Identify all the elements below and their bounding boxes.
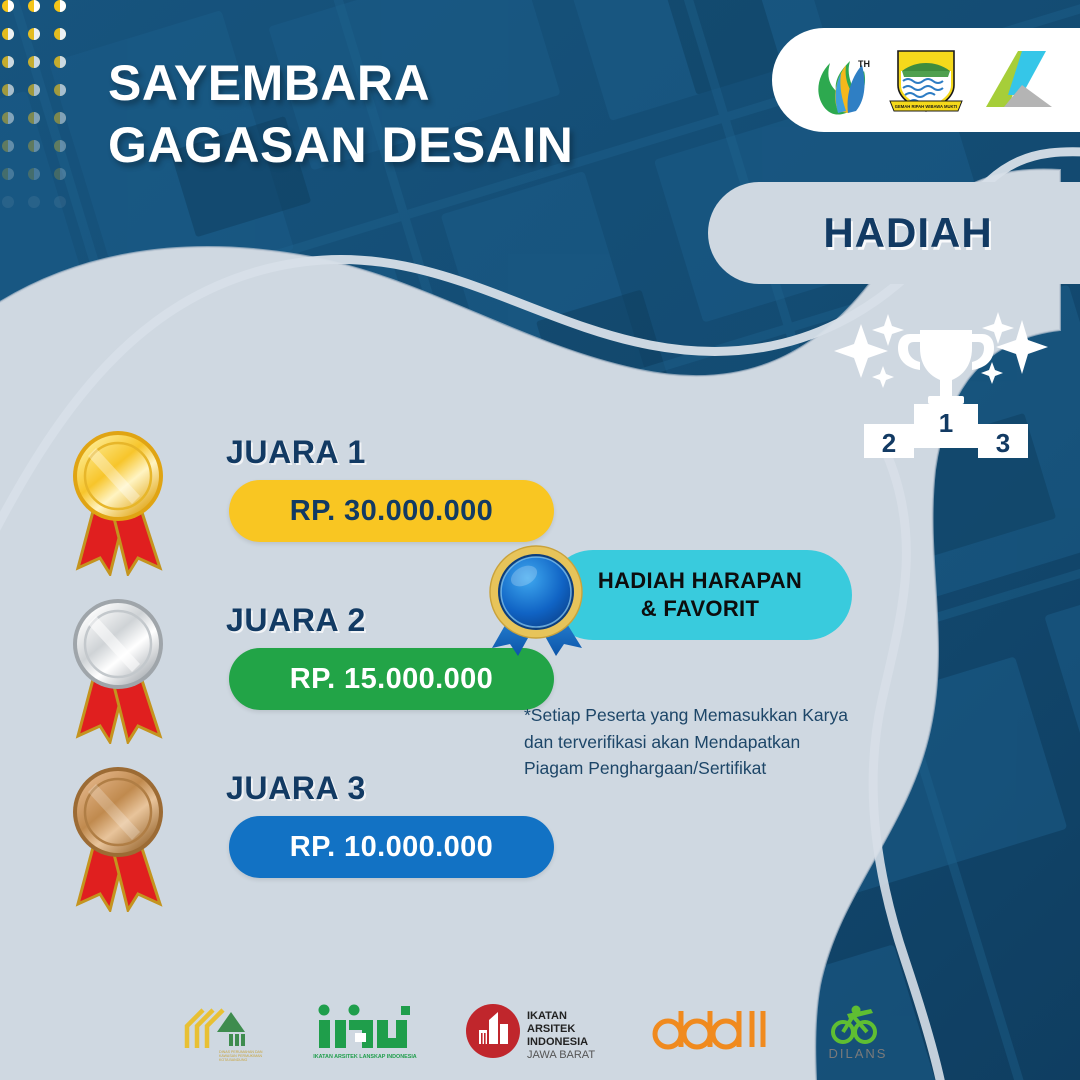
silver-medal-icon [66, 594, 172, 744]
dilans-logo: DILANS [815, 1000, 901, 1062]
anniversary-flame-logo: TH [808, 45, 870, 115]
iai-text-3: INDONESIA [527, 1036, 588, 1048]
coat-of-arms-motto: GEMAH RIPAH WIBAWA MUKTI [895, 104, 958, 109]
footer-logo-strip: DINAS PERUMAHAN DAN KAWASAN PERMUKIMAN K… [0, 1000, 1080, 1062]
iai-text-4: JAWA BARAT [527, 1049, 595, 1061]
decorative-dot-grid [0, 0, 80, 230]
triangle-brand-logo [982, 45, 1056, 115]
prize-amount-1: RP. 30.000.000 [229, 480, 554, 542]
special-prize-line-2: & FAVORIT [641, 596, 759, 621]
trophy-icon [898, 330, 994, 404]
page-title: SAYEMBARA GAGASAN DESAIN [108, 52, 573, 176]
section-label-text: HADIAH [823, 209, 992, 257]
iai-text-1: IKATAN [527, 1010, 567, 1022]
podium-place-2: 2 [882, 428, 896, 458]
sparkle-icon [834, 314, 904, 388]
iali-logo-text: IKATAN ARSITEK LANSKAP INDONESIA [313, 1054, 417, 1060]
title-line-2: GAGASAN DESAIN [108, 114, 573, 176]
section-label-hadiah: HADIAH [708, 182, 1080, 284]
gold-medal-icon [66, 426, 172, 576]
prize-list: JUARA 1 RP. 30.000.000 [66, 418, 536, 922]
podium-graphic: 1 2 3 [864, 404, 1028, 458]
dilans-logo-text: DILANS [829, 1046, 888, 1061]
blue-rosette-icon [478, 536, 606, 664]
bandung-coat-of-arms-logo: GEMAH RIPAH WIBAWA MUKTI [888, 45, 964, 115]
special-prize-label: HADIAH HARAPAN & FAVORIT [598, 567, 802, 623]
podium-place-3: 3 [996, 428, 1010, 458]
trophy-podium-graphic: 1 2 3 [826, 302, 1066, 472]
prize-amount-3: RP. 10.000.000 [229, 816, 554, 878]
special-prize-line-1: HADIAH HARAPAN [598, 568, 802, 593]
poster-canvas: SAYEMBARA GAGASAN DESAIN TH [0, 0, 1080, 1080]
prize-rank-label-3: JUARA 3 [226, 770, 366, 807]
iai-text-2: ARSITEK [527, 1023, 575, 1035]
prize-row-2: JUARA 2 RP. 15.000.000 [66, 586, 536, 754]
bronze-medal-icon [66, 762, 172, 912]
title-line-1: SAYEMBARA [108, 55, 430, 111]
anniversary-superscript: TH [858, 59, 870, 69]
iali-logo: IKATAN ARSITEK LANSKAP INDONESIA [311, 1000, 419, 1062]
adpii-logo [651, 1005, 769, 1057]
prize-rank-label-2: JUARA 2 [226, 602, 366, 639]
header-logo-pill: TH GEMAH RIPAH WIBAWA MUKTI [772, 28, 1080, 132]
prize-rank-label-1: JUARA 1 [226, 434, 366, 471]
prize-row-1: JUARA 1 RP. 30.000.000 [66, 418, 536, 586]
podium-place-1: 1 [939, 408, 953, 438]
dinas-perumahan-kota-bandung-logo: DINAS PERUMAHAN DAN KAWASAN PERMUKIMAN K… [179, 1000, 265, 1062]
prize-note: *Setiap Peserta yang Memasukkan Karya da… [524, 702, 854, 782]
prize-row-3: JUARA 3 RP. 10.000.000 [66, 754, 536, 922]
iai-jawa-barat-logo: IKATAN ARSITEK INDONESIA JAWA BARAT [465, 1000, 605, 1062]
dinas-logo-text-3: KOTA BANDUNG [219, 1058, 247, 1062]
